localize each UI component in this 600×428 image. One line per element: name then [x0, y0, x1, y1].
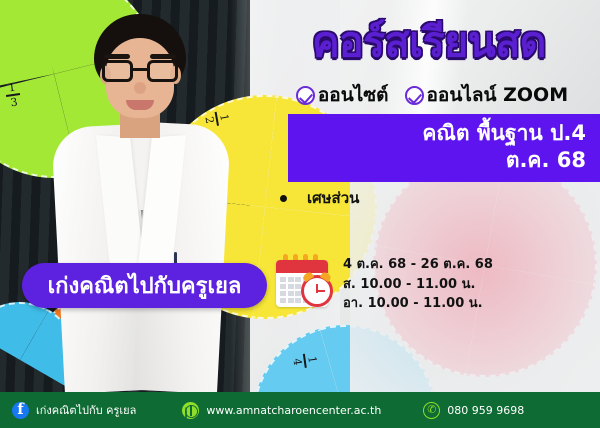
- topic-label: เศษส่วน: [307, 186, 359, 210]
- delivery-modes: ออนไซต์ ออนไลน์ ZOOM: [268, 80, 596, 110]
- footer-facebook[interactable]: เก่งคณิตไปกับ ครูเยล: [12, 401, 136, 419]
- course-name: คณิต พื้นฐาน ป.4: [288, 119, 586, 147]
- tagline-badge: เก่งคณิตไปกับครูเยล: [22, 263, 267, 308]
- facebook-label: เก่งคณิตไปกับ ครูเยล: [36, 401, 136, 419]
- footer-phone[interactable]: 080 959 9698: [423, 402, 524, 419]
- glasses-icon: [102, 60, 178, 82]
- eyebrow-left: [104, 54, 130, 59]
- check-circle-icon: [296, 86, 315, 105]
- phone-label: 080 959 9698: [447, 404, 524, 417]
- schedule-block: 4 ต.ค. 68 - 26 ต.ค. 68 ส. 10.00 - 11.00 …: [276, 253, 493, 314]
- bullet-dot-icon: [280, 195, 287, 202]
- schedule-saturday: ส. 10.00 - 11.00 น.: [343, 275, 493, 295]
- mode-onsite: ออนไซต์: [296, 80, 389, 110]
- course-banner: คณิต พื้นฐาน ป.4 ต.ค. 68: [288, 114, 600, 182]
- contact-footer: เก่งคณิตไปกับ ครูเยล www.amnatcharoencen…: [0, 392, 600, 428]
- page-title: คอร์สเรียนสด: [264, 22, 594, 63]
- instructor-photo: [52, 14, 220, 392]
- tagline-text: เก่งคณิตไปกับครูเยล: [48, 268, 242, 303]
- nose: [134, 82, 146, 94]
- schedule-date-range: 4 ต.ค. 68 - 26 ต.ค. 68: [343, 255, 493, 275]
- check-circle-icon: [405, 86, 424, 105]
- phone-icon: [423, 402, 440, 419]
- schedule-sunday: อา. 10.00 - 11.00 น.: [343, 294, 493, 314]
- mode-online-label: ออนไลน์ ZOOM: [427, 80, 569, 110]
- footer-website[interactable]: www.amnatcharoencenter.ac.th: [182, 402, 381, 419]
- globe-icon: [182, 402, 199, 419]
- eyebrow-right: [150, 54, 176, 59]
- course-month: ต.ค. 68: [288, 147, 586, 173]
- facebook-icon: [12, 402, 29, 419]
- mode-online: ออนไลน์ ZOOM: [405, 80, 569, 110]
- mode-onsite-label: ออนไซต์: [318, 80, 389, 110]
- promo-poster: 13 12 12 14: [0, 0, 600, 428]
- topic-bullet: เศษส่วน: [280, 186, 359, 210]
- website-label: www.amnatcharoencenter.ac.th: [206, 404, 381, 417]
- calendar-clock-icon: [276, 253, 334, 309]
